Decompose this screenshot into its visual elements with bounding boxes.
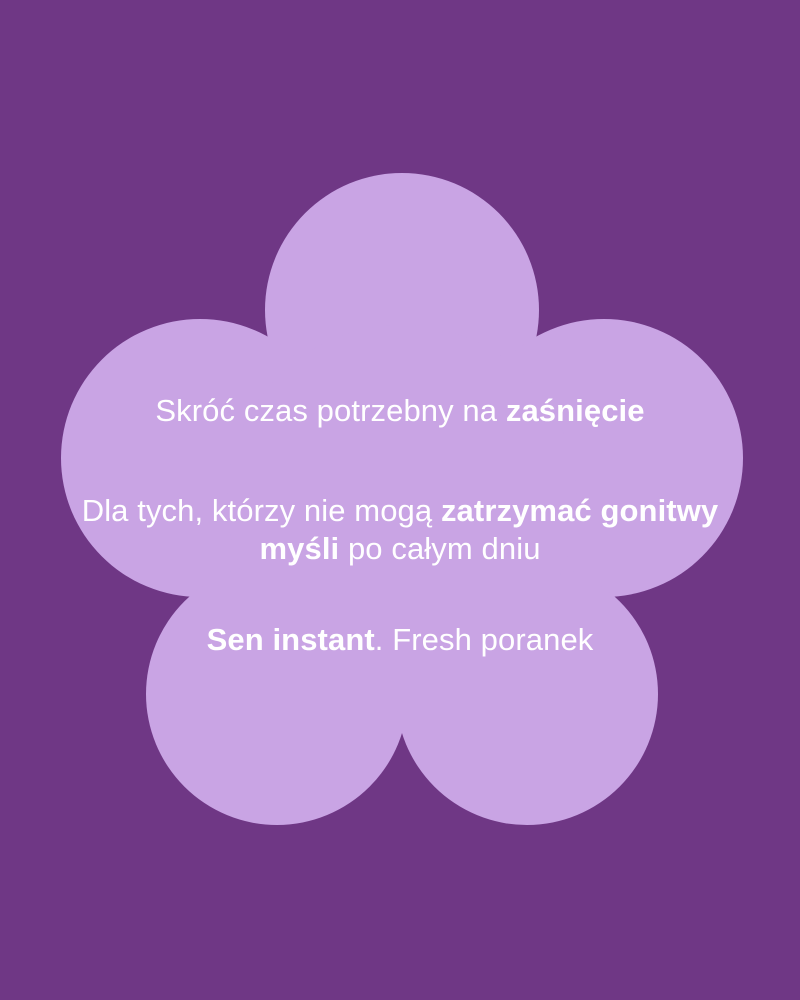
headline: Skróć czas potrzebny na zaśnięcie [80,392,720,430]
headline-segment-2: zaśnięcie [506,393,645,428]
body-text: Dla tych, którzy nie mogą zatrzymać goni… [80,492,720,568]
copy-overlay: Skróć czas potrzebny na zaśnięcie Dla ty… [0,0,800,1000]
headline-segment-1: Skróć czas potrzebny na [155,393,505,428]
tagline-segment-2: . Fresh poranek [375,622,594,657]
body-segment-1: Dla tych, którzy nie mogą [82,493,441,528]
poster-canvas: Skróć czas potrzebny na zaśnięcie Dla ty… [0,0,800,1000]
tagline: Sen instant. Fresh poranek [80,621,720,659]
tagline-segment-1: Sen instant [207,622,375,657]
body-segment-3: po całym dniu [339,531,540,566]
